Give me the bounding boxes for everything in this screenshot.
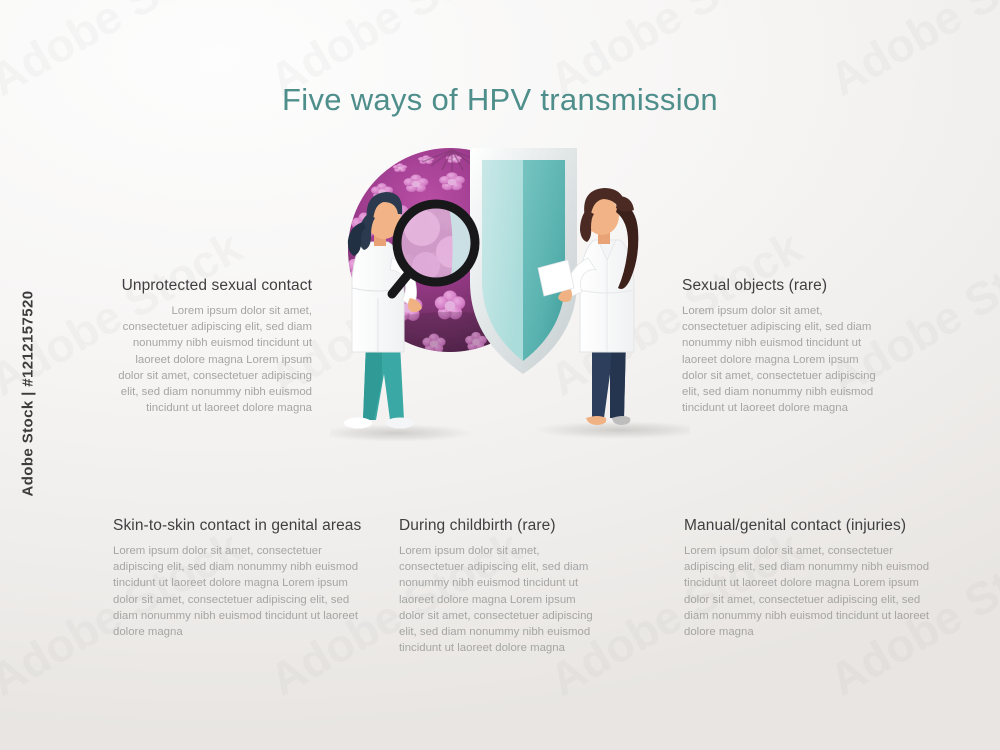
block-body: Lorem ipsum dolor sit amet, consectetuer… — [399, 543, 604, 656]
block-body: Lorem ipsum dolor sit amet, consectetuer… — [684, 543, 942, 640]
block-body: Lorem ipsum dolor sit amet, consectetuer… — [110, 303, 312, 416]
transmission-block-manual: Manual/genital contact (injuries) Lorem … — [684, 517, 942, 640]
infographic-canvas: Adobe Stock Adobe Stock Adobe Stock Adob… — [0, 0, 1000, 750]
block-heading: During childbirth (rare) — [399, 517, 604, 535]
block-body: Lorem ipsum dolor sit amet, consectetuer… — [113, 543, 371, 640]
watermark-attribution: Adobe Stock | #1212157520 — [20, 114, 37, 674]
page-title: Five ways of HPV transmission — [0, 82, 1000, 118]
block-heading: Unprotected sexual contact — [110, 277, 312, 295]
transmission-block-unprotected: Unprotected sexual contact Lorem ipsum d… — [110, 277, 312, 416]
transmission-block-objects: Sexual objects (rare) Lorem ipsum dolor … — [682, 277, 887, 416]
block-heading: Sexual objects (rare) — [682, 277, 887, 295]
transmission-block-skin: Skin-to-skin contact in genital areas Lo… — [113, 517, 371, 640]
block-heading: Skin-to-skin contact in genital areas — [113, 517, 371, 535]
block-heading: Manual/genital contact (injuries) — [684, 517, 942, 535]
figure-shadow — [532, 421, 690, 439]
transmission-block-childbirth: During childbirth (rare) Lorem ipsum dol… — [399, 517, 604, 656]
hpv-illustration — [330, 130, 690, 460]
block-body: Lorem ipsum dolor sit amet, consectetuer… — [682, 303, 887, 416]
